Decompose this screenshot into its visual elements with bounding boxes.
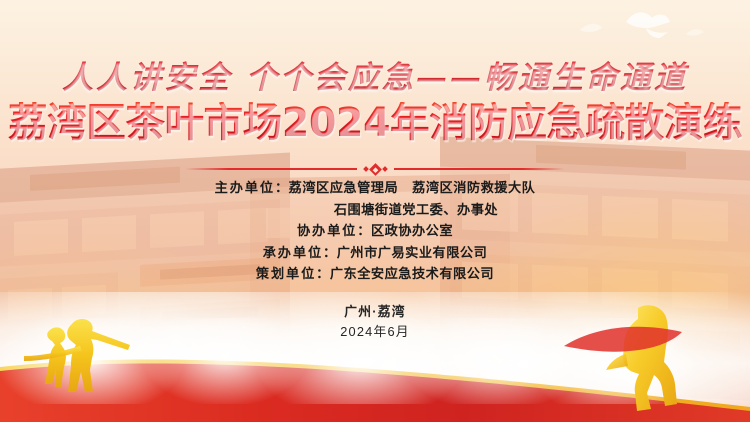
- date-text: 2024年6月: [0, 322, 750, 342]
- organizer-label: 主办单位：: [215, 177, 289, 199]
- organizer-value: 荔湾区应急管理局: [289, 177, 399, 199]
- organizer-label: 承办单位：: [263, 242, 337, 264]
- organizer-value-secondary: 荔湾区消防救援大队: [412, 177, 535, 199]
- organizer-label: 策划单位：: [256, 263, 330, 285]
- organizer-value: 石围塘街道党工委、办事处: [252, 199, 498, 221]
- organizer-value: 广东全安应急技术有限公司: [330, 263, 494, 285]
- poster-content: 人人讲安全 个个会应急——畅通生命通道 荔湾区茶叶市场2024年消防应急疏散演练…: [0, 0, 750, 422]
- slogan-text: 人人讲安全 个个会应急——畅通生命通道: [0, 52, 750, 97]
- organizer-row: 承办单位：广州市广易实业有限公司: [0, 242, 750, 264]
- organizer-value: 区政协办公室: [371, 220, 453, 242]
- divider-line-left: [185, 168, 357, 170]
- place-date-block: 广州·荔湾 2024年6月: [0, 302, 750, 342]
- organizer-row: 主办单位：荔湾区应急管理局荔湾区消防救援大队: [0, 177, 750, 199]
- place-text: 广州·荔湾: [0, 302, 750, 322]
- organizer-row: 石围塘街道党工委、办事处: [0, 199, 750, 221]
- divider-dot-left: [363, 166, 369, 172]
- page-title: 荔湾区茶叶市场2024年消防应急疏散演练: [4, 102, 747, 145]
- organizer-row: 策划单位：广东全安应急技术有限公司: [0, 263, 750, 285]
- organizer-value: 广州市广易实业有限公司: [337, 242, 488, 264]
- organizer-block: 主办单位：荔湾区应急管理局荔湾区消防救援大队 石围塘街道党工委、办事处 协办单位…: [0, 177, 750, 285]
- organizer-row: 协办单位：区政协办公室: [0, 220, 750, 242]
- diamond-ornament-icon: [357, 165, 394, 174]
- divider-dot-right: [382, 166, 388, 172]
- poster-canvas: 人人讲安全 个个会应急——畅通生命通道 荔湾区茶叶市场2024年消防应急疏散演练…: [0, 0, 750, 422]
- divider: [185, 160, 565, 178]
- organizer-label: 协办单位：: [297, 220, 371, 242]
- divider-line-right: [394, 168, 566, 170]
- divider-diamond: [369, 163, 382, 176]
